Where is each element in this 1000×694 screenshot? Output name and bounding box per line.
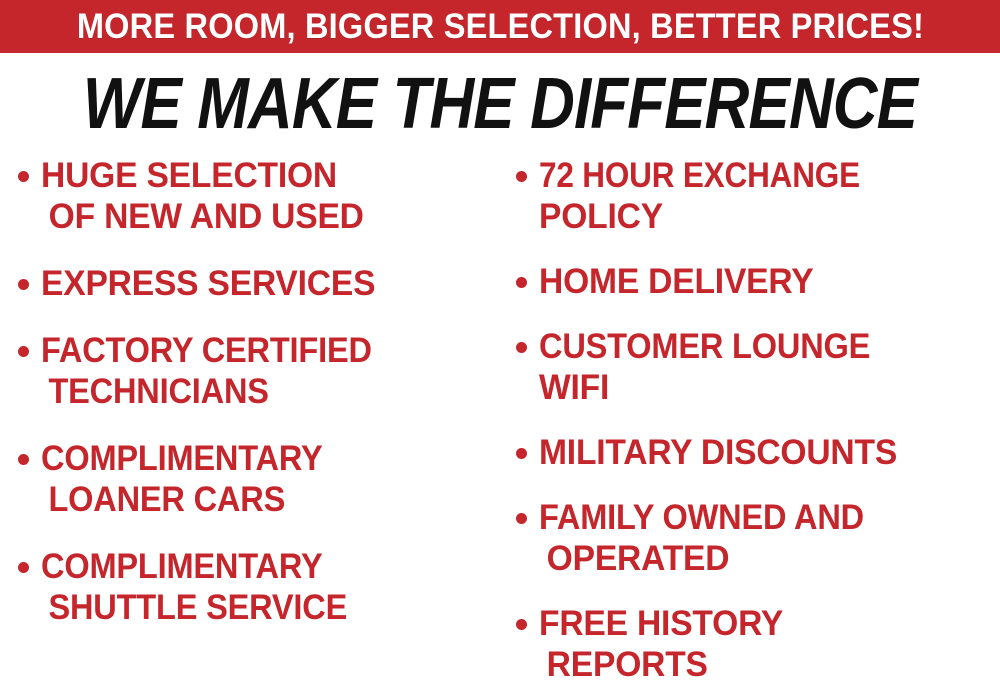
bullet-dot-icon	[516, 448, 527, 459]
page-title-text: WE MAKE THE DIFFERENCE	[83, 68, 917, 140]
features-column-right: 72 HOUR EXCHANGE POLICY HOME DELIVERY CU…	[500, 155, 1000, 694]
bullet-dot-icon	[516, 171, 527, 182]
list-item: COMPLIMENTARY LOANER CARS	[18, 438, 496, 520]
bullet-dot-icon	[516, 619, 527, 630]
list-item: FACTORY CERTIFIED TECHNICIANS	[18, 330, 496, 412]
list-item-line: FACTORY CERTIFIED	[41, 330, 464, 371]
list-item: FREE HISTORY REPORTS	[516, 603, 1000, 685]
list-item-line: COMPLIMENTARY	[41, 438, 464, 479]
list-item-line: FAMILY OWNED AND	[539, 497, 968, 538]
list-item: MILITARY DISCOUNTS	[516, 432, 1000, 473]
list-item-text: FREE HISTORY REPORTS	[539, 603, 1000, 685]
features-columns: HUGE SELECTION OF NEW AND USED EXPRESS S…	[0, 155, 1000, 694]
features-column-left: HUGE SELECTION OF NEW AND USED EXPRESS S…	[0, 155, 500, 654]
list-item-line: CUSTOMER LOUNGE	[539, 326, 968, 367]
bullet-dot-icon	[516, 513, 527, 524]
list-item: HOME DELIVERY	[516, 261, 1000, 302]
list-item-line: HUGE SELECTION	[41, 155, 478, 196]
bullet-dot-icon	[516, 342, 527, 353]
list-item-line: WIFI	[539, 367, 982, 408]
list-item: FAMILY OWNED AND OPERATED	[516, 497, 1000, 579]
list-item-line: TECHNICIANS	[41, 371, 464, 412]
bullet-dot-icon	[18, 562, 29, 573]
list-item-text: EXPRESS SERVICES	[41, 263, 496, 304]
list-item-line: EXPRESS SERVICES	[41, 263, 478, 304]
header-banner-text: MORE ROOM, BIGGER SELECTION, BETTER PRIC…	[76, 9, 923, 44]
list-item-line: 72 HOUR EXCHANGE	[539, 155, 954, 196]
list-item-text: HOME DELIVERY	[539, 261, 1000, 302]
list-item: COMPLIMENTARY SHUTTLE SERVICE	[18, 546, 496, 628]
list-item-text: MILITARY DISCOUNTS	[539, 432, 1000, 473]
list-item-text: HUGE SELECTION OF NEW AND USED	[41, 155, 496, 237]
list-item: CUSTOMER LOUNGE WIFI	[516, 326, 1000, 408]
list-item-text: CUSTOMER LOUNGE WIFI	[539, 326, 1000, 408]
bullet-dot-icon	[18, 454, 29, 465]
list-item-line: SHUTTLE SERVICE	[41, 587, 464, 628]
promotional-poster: MORE ROOM, BIGGER SELECTION, BETTER PRIC…	[0, 0, 1000, 694]
list-item-line: HOME DELIVERY	[539, 261, 982, 302]
list-item-line: OF NEW AND USED	[41, 196, 478, 237]
list-item-line: FREE HISTORY	[539, 603, 982, 644]
list-item: 72 HOUR EXCHANGE POLICY	[516, 155, 1000, 237]
list-item: HUGE SELECTION OF NEW AND USED	[18, 155, 496, 237]
list-item-line: REPORTS	[539, 644, 982, 685]
bullet-dot-icon	[516, 277, 527, 288]
list-item-text: FACTORY CERTIFIED TECHNICIANS	[41, 330, 496, 412]
list-item-text: FAMILY OWNED AND OPERATED	[539, 497, 1000, 579]
header-banner: MORE ROOM, BIGGER SELECTION, BETTER PRIC…	[0, 0, 1000, 53]
list-item-line: MILITARY DISCOUNTS	[539, 432, 982, 473]
list-item-text: COMPLIMENTARY SHUTTLE SERVICE	[41, 546, 496, 628]
list-item: EXPRESS SERVICES	[18, 263, 496, 304]
bullet-dot-icon	[18, 171, 29, 182]
list-item-line: LOANER CARS	[41, 479, 464, 520]
list-item-line: POLICY	[539, 196, 982, 237]
list-item-line: OPERATED	[539, 538, 982, 579]
page-title: WE MAKE THE DIFFERENCE	[0, 68, 1000, 140]
list-item-text: 72 HOUR EXCHANGE POLICY	[539, 155, 1000, 237]
bullet-dot-icon	[18, 279, 29, 290]
list-item-line: COMPLIMENTARY	[41, 546, 464, 587]
list-item-text: COMPLIMENTARY LOANER CARS	[41, 438, 496, 520]
bullet-dot-icon	[18, 346, 29, 357]
